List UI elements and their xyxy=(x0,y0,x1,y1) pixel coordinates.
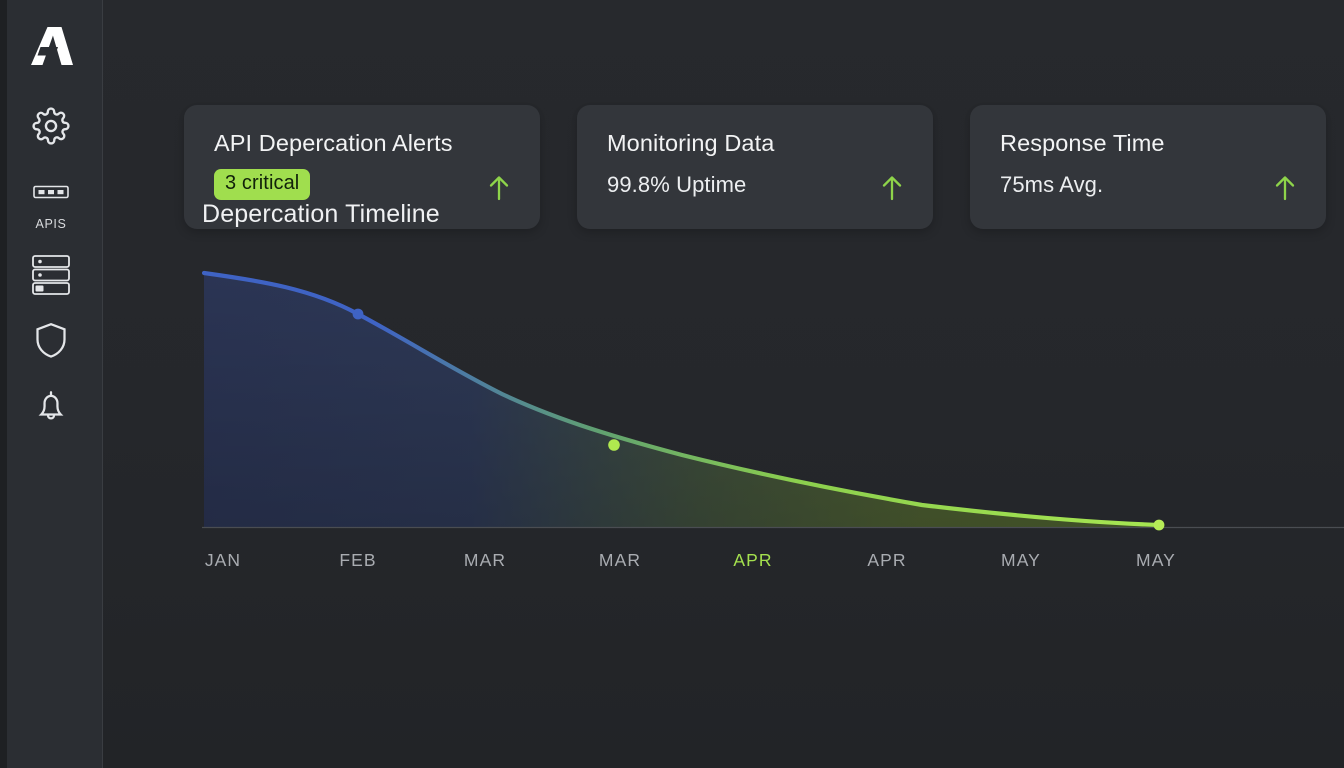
x-axis-tick: APR xyxy=(867,550,906,571)
sidebar-item-servers[interactable] xyxy=(15,253,87,297)
chart-point-feb[interactable] xyxy=(353,309,364,320)
gear-icon xyxy=(29,104,73,148)
x-axis-tick: MAY xyxy=(1136,550,1176,571)
arrow-up-icon xyxy=(881,175,903,201)
status-badge: 3 critical xyxy=(214,169,310,200)
sidebar-item-apis[interactable]: APIS xyxy=(15,170,87,231)
chart-svg xyxy=(202,259,1344,541)
chart-x-axis: JAN FEB MAR MAR APR APR MAY MAY xyxy=(202,550,1344,580)
card-subtitle: 99.8% Uptime xyxy=(607,172,746,198)
card-sub-row: 99.8% Uptime xyxy=(607,170,903,200)
card-sub-row: 3 critical xyxy=(214,170,510,200)
sidebar-item-notifications[interactable] xyxy=(15,385,87,429)
sidebar-item-settings[interactable] xyxy=(15,104,87,148)
main-content: API Depercation Alerts 3 critical Monito… xyxy=(103,0,1344,768)
chart-point-may[interactable] xyxy=(1154,520,1165,531)
x-axis-tick: MAR xyxy=(464,550,506,571)
chart-title: Depercation Timeline xyxy=(202,200,1344,229)
arrow-up-icon xyxy=(488,175,510,201)
arrow-up-icon xyxy=(1274,175,1296,201)
card-sub-row: 75ms Avg. xyxy=(1000,170,1296,200)
card-subtitle: 75ms Avg. xyxy=(1000,172,1103,198)
brand-logo[interactable] xyxy=(23,18,79,74)
shield-icon xyxy=(29,319,73,363)
sidebar-item-label-apis: APIS xyxy=(36,217,67,231)
card-title: Response Time xyxy=(1000,131,1296,157)
brand-logo-a-icon xyxy=(28,24,74,68)
card-title: Monitoring Data xyxy=(607,131,903,157)
apis-icon xyxy=(29,170,73,214)
x-axis-tick: JAN xyxy=(205,550,241,571)
server-icon xyxy=(29,253,73,297)
dashboard-root: APIS xyxy=(0,0,1344,768)
x-axis-tick: MAR xyxy=(599,550,641,571)
x-axis-tick: FEB xyxy=(339,550,376,571)
x-axis-tick-active: APR xyxy=(733,550,772,571)
chart-area-shade xyxy=(204,273,1160,527)
deprecation-timeline-chart[interactable] xyxy=(202,259,1344,541)
x-axis-tick: MAY xyxy=(1001,550,1041,571)
chart-point-mar[interactable] xyxy=(608,439,620,451)
bell-icon xyxy=(29,385,73,429)
sidebar-item-security[interactable] xyxy=(15,319,87,363)
sidebar: APIS xyxy=(0,0,103,768)
card-title: API Depercation Alerts xyxy=(214,131,510,157)
chart-section: Depercation Timeline xyxy=(202,200,1344,580)
